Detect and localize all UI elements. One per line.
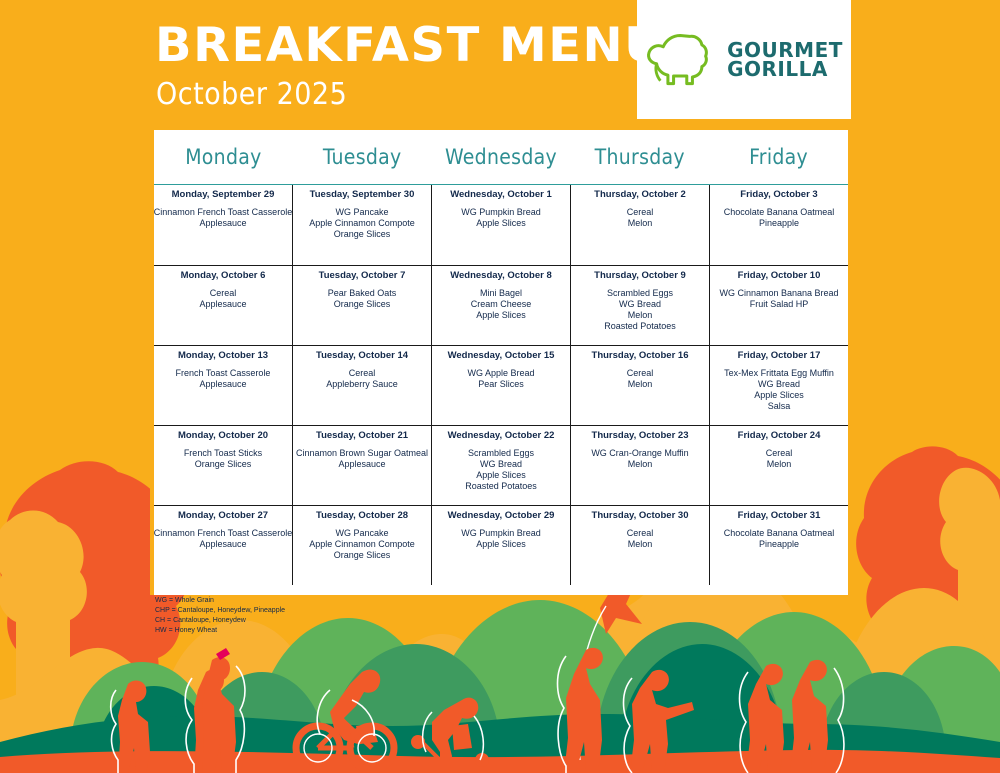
- abbreviation-legend: WG = Whole GrainCHP = Cantaloupe, Honeyd…: [155, 596, 285, 637]
- legend-line: HW = Honey Wheat: [155, 626, 285, 636]
- calendar-day-cell[interactable]: Monday, October 6CerealApplesauce: [154, 266, 292, 345]
- calendar-week-row: Monday, September 29Cinnamon French Toas…: [154, 185, 848, 265]
- menu-item: WG Pumpkin Bread: [461, 207, 541, 218]
- hill-yellow-mound-b: [840, 588, 1000, 720]
- menu-item: Applesauce: [296, 459, 428, 470]
- hill-darkgreen-ridge: [0, 714, 1000, 773]
- menu-item: WG Bread: [465, 459, 537, 470]
- day-cell-menu-items: Chocolate Banana OatmealPineapple: [724, 207, 835, 229]
- day-cell-date: Thursday, October 2: [594, 190, 686, 200]
- person-walker-1: [111, 681, 150, 773]
- day-cell-menu-items: WG Pumpkin BreadApple Slices: [461, 207, 541, 229]
- calendar-day-cell[interactable]: Friday, October 17Tex-Mex Frittata Egg M…: [709, 346, 848, 425]
- bicycle-wheel-rear: [296, 726, 340, 770]
- day-cell-date: Tuesday, October 28: [316, 511, 408, 521]
- calendar-day-cell[interactable]: Friday, October 24CerealMelon: [709, 426, 848, 505]
- calendar-week-row: Monday, October 13French Toast Casserole…: [154, 345, 848, 425]
- day-cell-menu-items: French Toast SticksOrange Slices: [184, 448, 262, 470]
- menu-item: Cereal: [199, 288, 246, 299]
- calendar-day-cell[interactable]: Friday, October 10WG Cinnamon Banana Bre…: [709, 266, 848, 345]
- hill-green-mound-b: [430, 600, 648, 742]
- menu-item: Appleberry Sauce: [326, 379, 398, 390]
- menu-item: Fruit Salad HP: [719, 299, 838, 310]
- menu-item: WG Pumpkin Bread: [461, 528, 541, 539]
- day-cell-date: Friday, October 3: [740, 190, 817, 200]
- menu-item: WG Pancake: [309, 528, 415, 539]
- menu-item: Pineapple: [724, 539, 835, 550]
- menu-item: Cinnamon French Toast Casserole: [154, 528, 292, 539]
- menu-item: Pear Slices: [467, 379, 534, 390]
- day-cell-date: Monday, September 29: [172, 190, 275, 200]
- menu-item: WG Bread: [724, 379, 834, 390]
- hill-green-mound-d: [880, 646, 1000, 748]
- tree-right-yellow: [939, 468, 1000, 773]
- menu-item: Melon: [766, 459, 793, 470]
- calendar-day-cell[interactable]: Monday, October 13French Toast Casserole…: [154, 346, 292, 425]
- calendar-day-cell[interactable]: Thursday, October 16CerealMelon: [570, 346, 709, 425]
- person-drinking: [202, 648, 245, 773]
- calendar-day-cell[interactable]: Wednesday, October 29WG Pumpkin BreadApp…: [431, 506, 570, 585]
- day-cell-date: Wednesday, October 29: [448, 511, 555, 521]
- person-walker-2: [185, 669, 228, 773]
- day-cell-date: Thursday, October 23: [592, 431, 689, 441]
- menu-item: French Toast Casserole: [176, 368, 271, 379]
- menu-item: Salsa: [724, 401, 834, 412]
- menu-item: Pineapple: [724, 218, 835, 229]
- day-cell-menu-items: Cinnamon French Toast CasseroleApplesauc…: [154, 207, 292, 229]
- day-cell-date: Friday, October 24: [738, 431, 821, 441]
- calendar-day-cell[interactable]: Monday, October 20French Toast SticksOra…: [154, 426, 292, 505]
- brand-wordmark: GOURMET GORILLA: [727, 41, 843, 79]
- day-cell-menu-items: Tex-Mex Frittata Egg MuffinWG BreadApple…: [724, 368, 834, 412]
- calendar-day-cell[interactable]: Tuesday, October 21Cinnamon Brown Sugar …: [292, 426, 431, 505]
- calendar-day-cell[interactable]: Friday, October 31Chocolate Banana Oatme…: [709, 506, 848, 585]
- menu-item: Apple Slices: [461, 539, 541, 550]
- day-cell-date: Thursday, October 30: [592, 511, 689, 521]
- kite-string: [577, 606, 606, 760]
- day-cell-date: Wednesday, October 22: [448, 431, 555, 441]
- person-walker-4: [790, 660, 844, 773]
- menu-item: Apple Cinnamon Compote: [309, 539, 415, 550]
- menu-item: Cereal: [766, 448, 793, 459]
- menu-item: WG Apple Bread: [467, 368, 534, 379]
- menu-item: Apple Slices: [724, 390, 834, 401]
- hill-midgreen-d: [820, 672, 946, 756]
- menu-calendar: MondayTuesdayWednesdayThursdayFriday Mon…: [150, 130, 848, 595]
- menu-item: Applesauce: [154, 539, 292, 550]
- calendar-day-cell[interactable]: Friday, October 3Chocolate Banana Oatmea…: [709, 185, 848, 265]
- day-cell-date: Wednesday, October 8: [450, 271, 552, 281]
- page-header: BREAKFAST MENU October 2025 GOURMET GORI…: [0, 0, 1000, 130]
- day-header-tuesday: Tuesday: [293, 130, 432, 184]
- day-header-monday: Monday: [154, 130, 293, 184]
- day-header-thursday: Thursday: [570, 130, 709, 184]
- menu-item: Apple Cinnamon Compote: [309, 218, 415, 229]
- legend-line: CHP = Cantaloupe, Honeydew, Pineapple: [155, 606, 285, 616]
- menu-item: Melon: [627, 379, 654, 390]
- calendar-day-cell[interactable]: Tuesday, October 7Pear Baked OatsOrange …: [292, 266, 431, 345]
- menu-item: Tex-Mex Frittata Egg Muffin: [724, 368, 834, 379]
- menu-item: French Toast Sticks: [184, 448, 262, 459]
- day-cell-menu-items: Scrambled EggsWG BreadApple SlicesRoaste…: [465, 448, 537, 492]
- hill-green-mound-e: [70, 662, 212, 752]
- hill-midgreen-b: [596, 622, 782, 748]
- menu-item: Cereal: [627, 528, 654, 539]
- hill-green-mound-a: [256, 618, 438, 742]
- legend-line: WG = Whole Grain: [155, 596, 285, 606]
- calendar-day-cell[interactable]: Thursday, October 9Scrambled EggsWG Brea…: [570, 266, 709, 345]
- day-cell-menu-items: CerealMelon: [627, 368, 654, 390]
- calendar-day-cell[interactable]: Thursday, October 2CerealMelon: [570, 185, 709, 265]
- day-cell-date: Monday, October 27: [178, 511, 268, 521]
- calendar-week-row: Monday, October 6CerealApplesauceTuesday…: [154, 265, 848, 345]
- menu-item: Cinnamon French Toast Casserole: [154, 207, 292, 218]
- menu-item: Cream Cheese: [471, 299, 532, 310]
- menu-item: Cereal: [627, 207, 654, 218]
- menu-item: Applesauce: [154, 218, 292, 229]
- breakfast-menu-page: BREAKFAST MENU October 2025 GOURMET GORI…: [0, 0, 1000, 773]
- gorilla-logo-icon: [645, 27, 721, 93]
- menu-item: Apple Slices: [461, 218, 541, 229]
- day-cell-date: Tuesday, October 21: [316, 431, 408, 441]
- day-cell-menu-items: CerealMelon: [627, 528, 654, 550]
- menu-item: Orange Slices: [309, 550, 415, 561]
- menu-item: Applesauce: [176, 379, 271, 390]
- day-cell-date: Wednesday, October 1: [450, 190, 552, 200]
- person-cyclist: [296, 670, 394, 770]
- tree-left-yellow: [0, 511, 87, 773]
- menu-item: WG Cinnamon Banana Bread: [719, 288, 838, 299]
- hill-midgreen-a: [330, 644, 500, 748]
- day-cell-menu-items: CerealApplesauce: [199, 288, 246, 310]
- day-cell-date: Monday, October 20: [178, 431, 268, 441]
- tree-right-orange: [856, 446, 1000, 773]
- page-subtitle-month: October 2025: [156, 80, 347, 110]
- menu-item: Orange Slices: [309, 229, 415, 240]
- menu-item: WG Pancake: [309, 207, 415, 218]
- day-cell-date: Thursday, October 16: [592, 351, 689, 361]
- day-cell-menu-items: WG Apple BreadPear Slices: [467, 368, 534, 390]
- menu-item: Melon: [591, 459, 688, 470]
- day-header-friday: Friday: [709, 130, 848, 184]
- menu-item: Mini Bagel: [471, 288, 532, 299]
- menu-item: Roasted Potatoes: [465, 481, 537, 492]
- calendar-day-cell[interactable]: Tuesday, October 14CerealAppleberry Sauc…: [292, 346, 431, 425]
- day-cell-menu-items: Chocolate Banana OatmealPineapple: [724, 528, 835, 550]
- day-cell-menu-items: CerealMelon: [766, 448, 793, 470]
- menu-item: Pear Baked Oats: [328, 288, 397, 299]
- ground-strip: [0, 750, 1000, 773]
- day-cell-menu-items: WG PancakeApple Cinnamon CompoteOrange S…: [309, 528, 415, 561]
- calendar-day-cell[interactable]: Monday, September 29Cinnamon French Toas…: [154, 185, 292, 265]
- calendar-day-cell[interactable]: Wednesday, October 1WG Pumpkin BreadAppl…: [431, 185, 570, 265]
- day-cell-menu-items: French Toast CasseroleApplesauce: [176, 368, 271, 390]
- legend-line: CH = Cantaloupe, Honeydew: [155, 616, 285, 626]
- day-cell-menu-items: WG Cran-Orange MuffinMelon: [591, 448, 688, 470]
- person-kite-flyer: [558, 648, 603, 773]
- day-header-wednesday: Wednesday: [432, 130, 571, 184]
- person-walker-3: [740, 664, 785, 773]
- day-cell-date: Monday, October 13: [178, 351, 268, 361]
- calendar-day-cell[interactable]: Thursday, October 30CerealMelon: [570, 506, 709, 585]
- person-scooter: [411, 698, 489, 773]
- day-cell-date: Thursday, October 9: [594, 271, 686, 281]
- bicycle-frame: [318, 722, 372, 748]
- menu-item: Scrambled Eggs: [604, 288, 676, 299]
- calendar-day-cell[interactable]: Wednesday, October 22Scrambled EggsWG Br…: [431, 426, 570, 505]
- day-of-week-header-row: MondayTuesdayWednesdayThursdayFriday: [154, 130, 848, 185]
- day-cell-menu-items: CerealAppleberry Sauce: [326, 368, 398, 390]
- calendar-week-row: Monday, October 20French Toast SticksOra…: [154, 425, 848, 505]
- person-arms-out: [624, 670, 695, 773]
- menu-item: Orange Slices: [184, 459, 262, 470]
- menu-item: Chocolate Banana Oatmeal: [724, 528, 835, 539]
- day-cell-menu-items: WG PancakeApple Cinnamon CompoteOrange S…: [309, 207, 415, 240]
- calendar-weeks: Monday, September 29Cinnamon French Toas…: [154, 185, 848, 585]
- day-cell-date: Monday, October 6: [181, 271, 266, 281]
- day-cell-menu-items: Mini BagelCream CheeseApple Slices: [471, 288, 532, 321]
- day-cell-date: Friday, October 31: [738, 511, 821, 521]
- day-cell-menu-items: WG Cinnamon Banana BreadFruit Salad HP: [719, 288, 838, 310]
- day-cell-menu-items: Pear Baked OatsOrange Slices: [328, 288, 397, 310]
- menu-item: Melon: [627, 218, 654, 229]
- calendar-day-cell[interactable]: Monday, October 27Cinnamon French Toast …: [154, 506, 292, 585]
- day-cell-date: Friday, October 17: [738, 351, 821, 361]
- menu-item: WG Cran-Orange Muffin: [591, 448, 688, 459]
- day-cell-menu-items: CerealMelon: [627, 207, 654, 229]
- calendar-day-cell[interactable]: Wednesday, October 8Mini BagelCream Chee…: [431, 266, 570, 345]
- calendar-week-row: Monday, October 27Cinnamon French Toast …: [154, 505, 848, 585]
- bicycle-wheel-front: [350, 726, 394, 770]
- day-cell-menu-items: Cinnamon French Toast CasseroleApplesauc…: [154, 528, 292, 550]
- day-cell-date: Friday, October 10: [738, 271, 821, 281]
- hill-midgreen-c: [196, 672, 326, 756]
- calendar-day-cell[interactable]: Wednesday, October 15WG Apple BreadPear …: [431, 346, 570, 425]
- calendar-day-cell[interactable]: Tuesday, October 28WG PancakeApple Cinna…: [292, 506, 431, 585]
- day-cell-menu-items: Cinnamon Brown Sugar OatmealApplesauce: [296, 448, 428, 470]
- menu-item: Apple Slices: [471, 310, 532, 321]
- brand-logo: GOURMET GORILLA: [637, 0, 851, 119]
- menu-item: Scrambled Eggs: [465, 448, 537, 459]
- menu-item: Cereal: [627, 368, 654, 379]
- menu-item: Orange Slices: [328, 299, 397, 310]
- menu-item: Cinnamon Brown Sugar Oatmeal: [296, 448, 428, 459]
- menu-item: Melon: [604, 310, 676, 321]
- menu-item: Chocolate Banana Oatmeal: [724, 207, 835, 218]
- menu-item: Cereal: [326, 368, 398, 379]
- hill-darkgreen-a: [620, 644, 784, 752]
- hill-green-mound-c: [700, 612, 886, 742]
- page-title: BREAKFAST MENU: [155, 22, 665, 69]
- scooter-handle: [420, 740, 478, 760]
- day-cell-menu-items: WG Pumpkin BreadApple Slices: [461, 528, 541, 550]
- day-cell-date: Tuesday, October 7: [319, 271, 406, 281]
- menu-item: Roasted Potatoes: [604, 321, 676, 332]
- calendar-day-cell[interactable]: Thursday, October 23WG Cran-Orange Muffi…: [570, 426, 709, 505]
- menu-item: Melon: [627, 539, 654, 550]
- day-cell-date: Tuesday, October 14: [316, 351, 408, 361]
- day-cell-date: Tuesday, September 30: [310, 190, 415, 200]
- menu-item: Applesauce: [199, 299, 246, 310]
- menu-item: WG Bread: [604, 299, 676, 310]
- calendar-day-cell[interactable]: Tuesday, September 30WG PancakeApple Cin…: [292, 185, 431, 265]
- menu-item: Apple Slices: [465, 470, 537, 481]
- brand-line-2: GORILLA: [727, 60, 843, 79]
- hill-darkgreen-b: [96, 686, 212, 758]
- day-cell-menu-items: Scrambled EggsWG BreadMelonRoasted Potat…: [604, 288, 676, 332]
- day-cell-date: Wednesday, October 15: [448, 351, 555, 361]
